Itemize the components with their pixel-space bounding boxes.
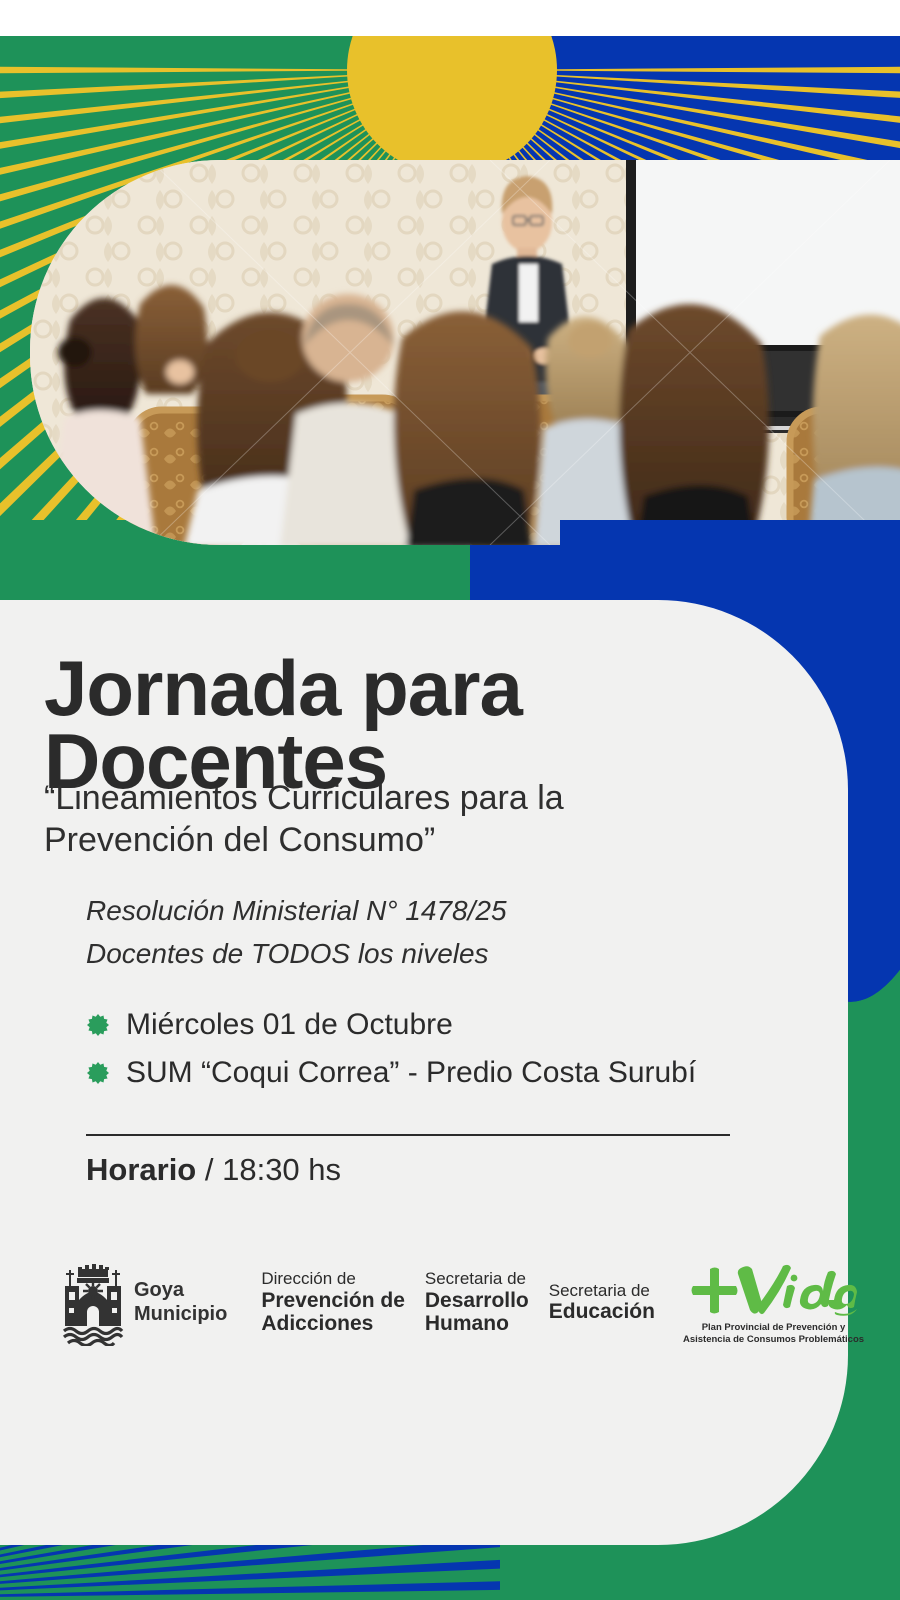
org-2-prefix: Secretaria de	[549, 1282, 655, 1301]
list-item: Miércoles 01 de Octubre	[86, 1008, 826, 1042]
org-1-line-2: Humano	[425, 1312, 529, 1335]
org-1-line-1: Desarrollo	[425, 1289, 529, 1312]
org-desarrollo-humano: Secretaria de Desarrollo Humano	[425, 1270, 529, 1335]
starburst-bullet-icon	[86, 1013, 110, 1037]
subtitle: “Lineamientos Curriculares para la Preve…	[44, 778, 684, 862]
schedule-label: Horario	[86, 1152, 196, 1187]
logo-strip: Goya Municipio Dirección de Prevención d…	[60, 1245, 830, 1360]
divider	[86, 1134, 730, 1136]
goya-cathedral-icon	[60, 1260, 126, 1346]
list-item: SUM “Coqui Correa” - Predio Costa Surubí	[86, 1056, 826, 1090]
starburst-bullet-icon	[86, 1061, 110, 1085]
org-1-prefix: Secretaria de	[425, 1270, 529, 1289]
org-prevencion-adicciones: Dirección de Prevención de Adicciones	[261, 1270, 405, 1335]
mas-vida-tagline: Plan Provincial de Prevención y Asistenc…	[683, 1322, 864, 1346]
event-venue: SUM “Coqui Correa” - Predio Costa Surubí	[126, 1056, 696, 1090]
goya-municipio-logo: Goya Municipio	[60, 1260, 227, 1346]
schedule-separator: /	[196, 1152, 222, 1187]
resolution-info: Resolución Ministerial N° 1478/25 Docent…	[86, 890, 726, 975]
page-title: Jornada para Docentes	[44, 652, 684, 797]
resolution-number: Resolución Ministerial N° 1478/25	[86, 890, 726, 933]
subtitle-line-2: Prevención del Consumo”	[44, 820, 684, 862]
schedule-value: 18:30 hs	[222, 1152, 341, 1187]
resolution-audience: Docentes de TODOS los niveles	[86, 933, 726, 976]
poster-canvas: Jornada para Docentes “Lineamientos Curr…	[0, 0, 900, 1600]
org-0-prefix: Dirección de	[261, 1270, 405, 1289]
subtitle-line-1: “Lineamientos Curriculares para la	[44, 778, 684, 820]
org-2-line-1: Educación	[549, 1300, 655, 1323]
event-date: Miércoles 01 de Octubre	[126, 1008, 453, 1042]
mas-vida-wordmark-icon	[683, 1260, 864, 1320]
mas-vida-logo: Plan Provincial de Prevención y Asistenc…	[683, 1260, 864, 1346]
schedule-line: Horario / 18:30 hs	[86, 1152, 341, 1188]
conference-audience-photo	[30, 160, 900, 545]
org-educacion: Secretaria de Educación	[549, 1282, 655, 1324]
goya-logo-text: Goya Municipio	[134, 1279, 227, 1326]
event-details-list: Miércoles 01 de Octubre SUM “Coqui Corre…	[86, 1008, 826, 1104]
mas-vida-tagline-line-2: Asistencia de Consumos Problemáticos	[683, 1334, 864, 1346]
org-0-line-1: Prevención de	[261, 1289, 405, 1312]
goya-logo-line-1: Goya	[134, 1279, 184, 1301]
goya-logo-line-2: Municipio	[134, 1303, 227, 1325]
mas-vida-tagline-line-1: Plan Provincial de Prevención y	[683, 1322, 864, 1334]
org-0-line-2: Adicciones	[261, 1312, 405, 1335]
